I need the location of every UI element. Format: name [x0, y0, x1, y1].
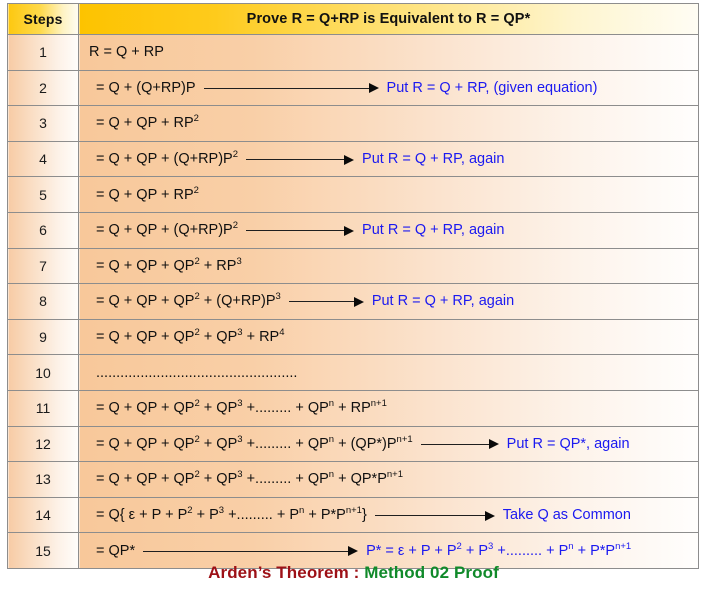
- expression-row: ........................................…: [79, 355, 698, 390]
- expression-row: R = Q + RP: [79, 35, 698, 70]
- proof-table: Steps Prove R = Q+RP is Equivalent to R …: [7, 3, 699, 569]
- step-number-cell: 4: [8, 141, 79, 177]
- annotation-text: Put R = QP*, again: [507, 436, 630, 452]
- column-header-steps: Steps: [8, 4, 79, 35]
- annotation-text: P* = ε + P + P2 + P3 +......... + Pn + P…: [366, 543, 631, 559]
- equation-text: = Q + QP + QP2 + QP3 +......... + QPn + …: [89, 436, 413, 452]
- arrow-shaft: [421, 444, 490, 445]
- table-row: 14= Q{ ε + P + P2 + P3 +......... + Pn +…: [8, 497, 699, 533]
- right-arrow-icon: [421, 439, 499, 449]
- expression-row: = Q + (Q+RP)PPut R = Q + RP, (given equa…: [79, 71, 698, 106]
- equation-text: ........................................…: [89, 365, 297, 381]
- step-number-cell: 13: [8, 462, 79, 498]
- table-row: 10......................................…: [8, 355, 699, 391]
- expression-cell: = Q + QP + QP2 + QP3 +......... + QPn + …: [79, 462, 699, 498]
- equation-text: = Q + QP + QP2 + QP3 + RP4: [89, 329, 285, 345]
- expression-cell: = Q + QP + (Q+RP)P2Put R = Q + RP, again: [79, 212, 699, 248]
- step-number-cell: 5: [8, 177, 79, 213]
- expression-row: = Q + QP + QP2 + (Q+RP)P3Put R = Q + RP,…: [79, 284, 698, 319]
- expression-cell: = Q + QP + RP2: [79, 177, 699, 213]
- step-number-cell: 14: [8, 497, 79, 533]
- step-number-cell: 7: [8, 248, 79, 284]
- expression-row: = Q{ ε + P + P2 + P3 +......... + Pn + P…: [79, 498, 698, 533]
- expression-cell: = Q + (Q+RP)PPut R = Q + RP, (given equa…: [79, 70, 699, 106]
- equation-text: = Q + QP + (Q+RP)P2: [89, 151, 238, 167]
- right-arrow-icon: [204, 83, 379, 93]
- caption-subtitle-part: Method 02 Proof: [364, 563, 499, 582]
- expression-row: = Q + QP + RP2: [79, 177, 698, 212]
- step-number-cell: 10: [8, 355, 79, 391]
- expression-row: = Q + QP + QP2 + QP3 +......... + QPn + …: [79, 391, 698, 426]
- step-number-cell: 8: [8, 284, 79, 320]
- expression-row: = Q + QP + (Q+RP)P2Put R = Q + RP, again: [79, 213, 698, 248]
- right-arrow-icon: [143, 546, 358, 556]
- expression-row: = Q + QP + QP2 + QP3 +......... + QPn + …: [79, 427, 698, 462]
- arrow-shaft: [289, 301, 355, 302]
- expression-row: = Q + QP + QP2 + QP3 +......... + QPn + …: [79, 462, 698, 497]
- table-row: 9= Q + QP + QP2 + QP3 + RP4: [8, 319, 699, 355]
- step-number-cell: 11: [8, 390, 79, 426]
- table-row: 7= Q + QP + QP2 + RP3: [8, 248, 699, 284]
- arrow-head: [485, 511, 495, 521]
- arrow-shaft: [143, 551, 349, 552]
- equation-text: = QP*: [89, 543, 135, 559]
- table-row: 4= Q + QP + (Q+RP)P2Put R = Q + RP, agai…: [8, 141, 699, 177]
- step-number-cell: 9: [8, 319, 79, 355]
- column-header-title: Prove R = Q+RP is Equivalent to R = QP*: [79, 4, 699, 35]
- figure-caption: Arden’s Theorem : Method 02 Proof: [0, 563, 707, 583]
- expression-row: = Q + QP + (Q+RP)P2Put R = Q + RP, again: [79, 142, 698, 177]
- step-number-cell: 2: [8, 70, 79, 106]
- expression-cell: R = Q + RP: [79, 35, 699, 71]
- equation-text: = Q + QP + RP2: [89, 115, 199, 131]
- step-number-cell: 3: [8, 106, 79, 142]
- arrow-shaft: [246, 230, 345, 231]
- equation-text: = Q + QP + QP2 + (Q+RP)P3: [89, 293, 281, 309]
- expression-row: = Q + QP + QP2 + RP3: [79, 249, 698, 284]
- step-number-cell: 1: [8, 35, 79, 71]
- arrow-head: [348, 546, 358, 556]
- arrow-shaft: [375, 515, 486, 516]
- table-row: 8= Q + QP + QP2 + (Q+RP)P3Put R = Q + RP…: [8, 284, 699, 320]
- expression-cell: = Q + QP + QP2 + QP3 + RP4: [79, 319, 699, 355]
- arrow-head: [489, 439, 499, 449]
- right-arrow-icon: [246, 225, 354, 235]
- table-row: 3= Q + QP + RP2: [8, 106, 699, 142]
- expression-cell: = Q + QP + QP2 + (Q+RP)P3Put R = Q + RP,…: [79, 284, 699, 320]
- table-row: 13= Q + QP + QP2 + QP3 +......... + QPn …: [8, 462, 699, 498]
- equation-text: = Q + QP + (Q+RP)P2: [89, 222, 238, 238]
- equation-text: = Q + QP + QP2 + QP3 +......... + QPn + …: [89, 471, 403, 487]
- equation-text: = Q{ ε + P + P2 + P3 +......... + Pn + P…: [89, 507, 367, 523]
- step-number-cell: 12: [8, 426, 79, 462]
- annotation-text: Take Q as Common: [503, 507, 631, 523]
- expression-cell: = Q + QP + (Q+RP)P2Put R = Q + RP, again: [79, 141, 699, 177]
- annotation-text: Put R = Q + RP, again: [362, 222, 504, 238]
- table-row: 12= Q + QP + QP2 + QP3 +......... + QPn …: [8, 426, 699, 462]
- arrow-shaft: [204, 88, 370, 89]
- arrow-head: [354, 297, 364, 307]
- annotation-text: Put R = Q + RP, (given equation): [387, 80, 598, 96]
- expression-row: = Q + QP + QP2 + QP3 + RP4: [79, 320, 698, 355]
- expression-cell: = Q + QP + QP2 + RP3: [79, 248, 699, 284]
- table-row: 11= Q + QP + QP2 + QP3 +......... + QPn …: [8, 390, 699, 426]
- arrow-head: [344, 155, 354, 165]
- table-row: 5= Q + QP + RP2: [8, 177, 699, 213]
- right-arrow-icon: [289, 296, 364, 306]
- right-arrow-icon: [246, 154, 354, 164]
- slide-canvas: Steps Prove R = Q+RP is Equivalent to R …: [0, 0, 707, 592]
- caption-title-part: Arden’s Theorem :: [208, 563, 359, 582]
- equation-text: = Q + QP + QP2 + QP3 +......... + QPn + …: [89, 400, 387, 416]
- expression-cell: = Q + QP + QP2 + QP3 +......... + QPn + …: [79, 390, 699, 426]
- equation-text: = Q + (Q+RP)P: [89, 80, 196, 96]
- arrow-head: [344, 226, 354, 236]
- equation-text: = Q + QP + QP2 + RP3: [89, 258, 242, 274]
- proof-table-body: 1R = Q + RP2= Q + (Q+RP)PPut R = Q + RP,…: [8, 35, 699, 569]
- expression-row: = Q + QP + RP2: [79, 106, 698, 141]
- table-row: 6= Q + QP + (Q+RP)P2Put R = Q + RP, agai…: [8, 212, 699, 248]
- annotation-text: Put R = Q + RP, again: [362, 151, 504, 167]
- expression-cell: = Q + QP + RP2: [79, 106, 699, 142]
- table-header-row: Steps Prove R = Q+RP is Equivalent to R …: [8, 4, 699, 35]
- right-arrow-icon: [375, 510, 495, 520]
- expression-cell: ........................................…: [79, 355, 699, 391]
- expression-cell: = Q + QP + QP2 + QP3 +......... + QPn + …: [79, 426, 699, 462]
- arrow-head: [369, 83, 379, 93]
- annotation-text: Put R = Q + RP, again: [372, 293, 514, 309]
- arrow-shaft: [246, 159, 345, 160]
- table-row: 1R = Q + RP: [8, 35, 699, 71]
- equation-text: = Q + QP + RP2: [89, 187, 199, 203]
- table-row: 2= Q + (Q+RP)PPut R = Q + RP, (given equ…: [8, 70, 699, 106]
- expression-cell: = Q{ ε + P + P2 + P3 +......... + Pn + P…: [79, 497, 699, 533]
- equation-text: R = Q + RP: [89, 44, 164, 60]
- step-number-cell: 6: [8, 212, 79, 248]
